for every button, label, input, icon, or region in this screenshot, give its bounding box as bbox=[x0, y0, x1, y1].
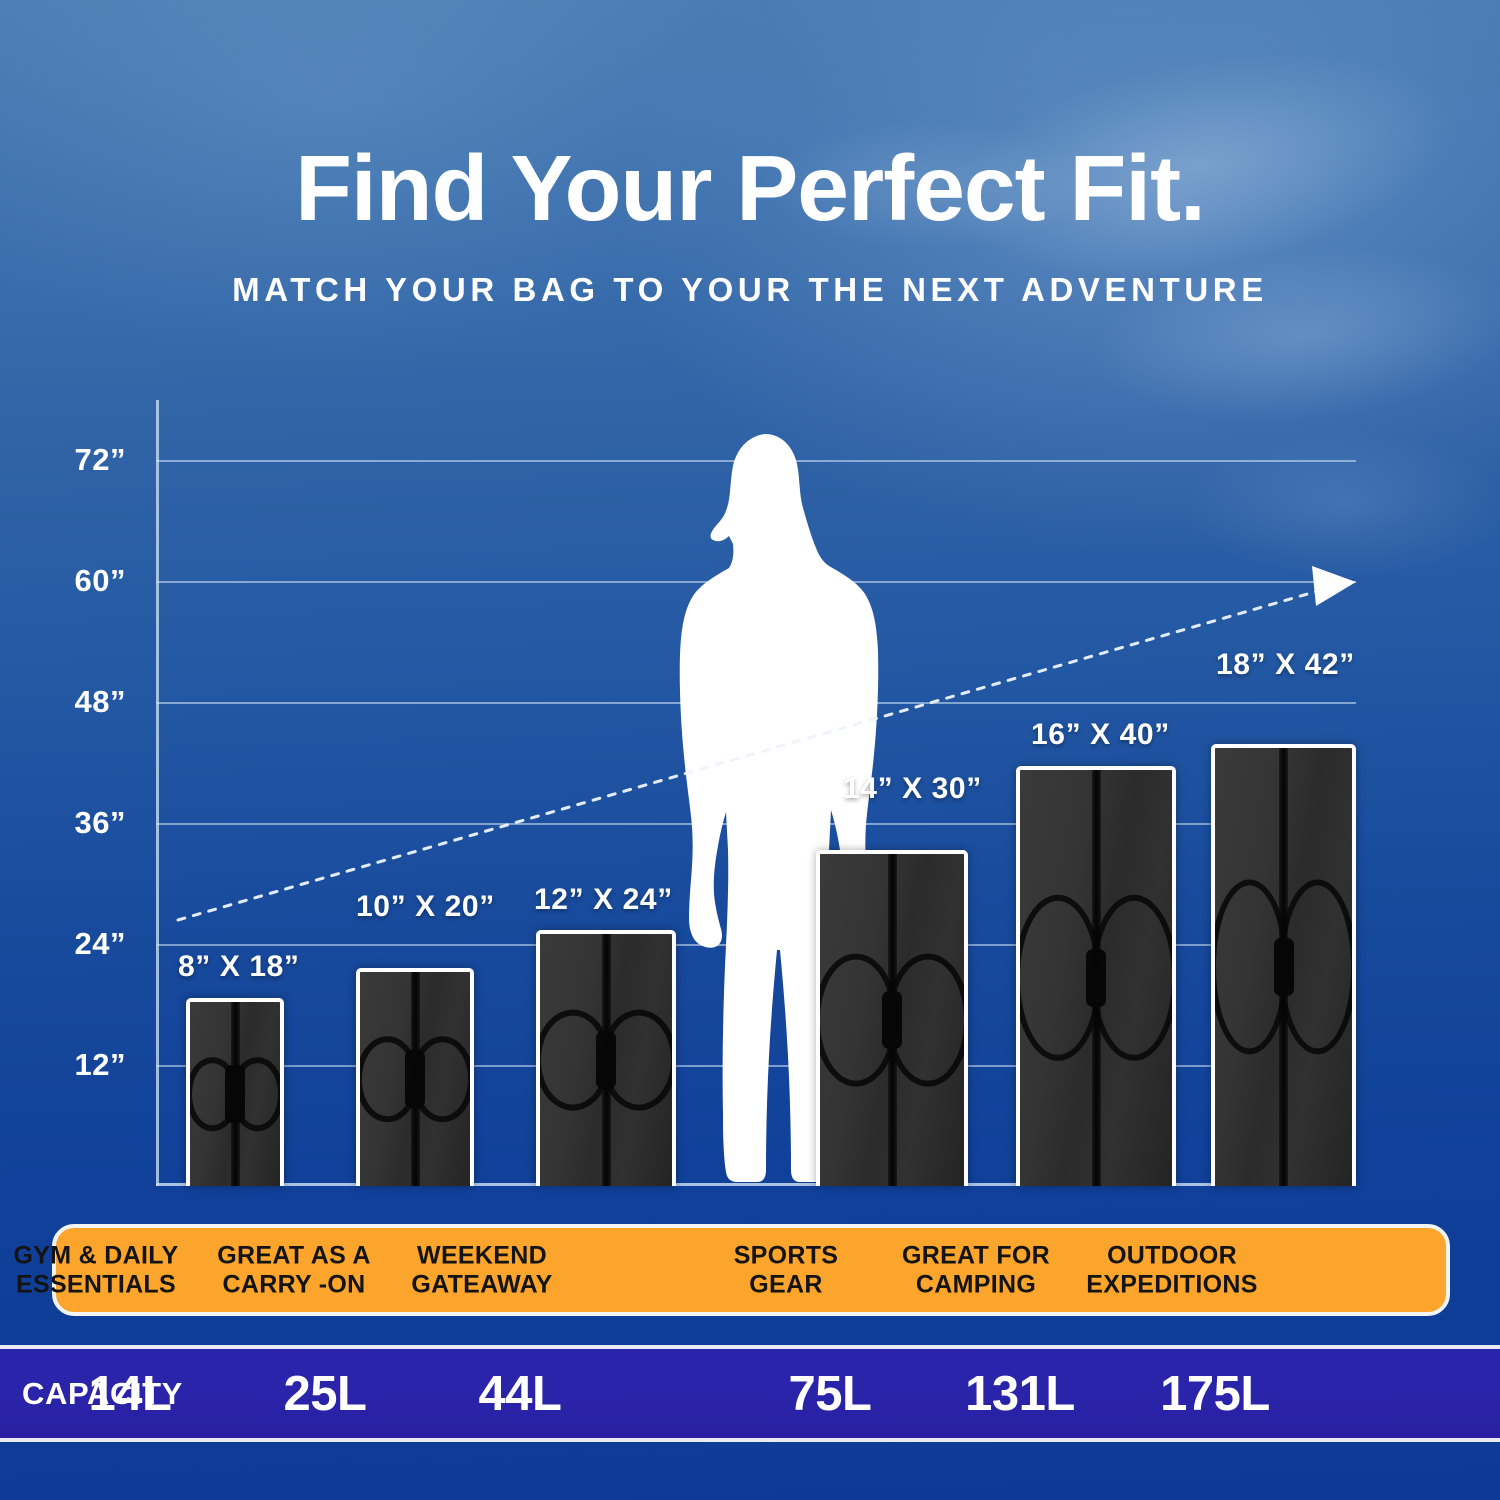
infographic-page: Find Your Perfect Fit. MATCH YOUR BAG TO… bbox=[0, 0, 1500, 1500]
capacity-strip: CAPACITY 14L25L44L75L131L175L bbox=[0, 1345, 1500, 1442]
use-case-cell[interactable]: SPORTS GEAR bbox=[696, 1242, 876, 1299]
gridline bbox=[156, 823, 1356, 825]
capacity-value: 44L bbox=[435, 1366, 605, 1422]
capacity-value: 131L bbox=[935, 1366, 1105, 1422]
bar-size-label: 10” X 20” bbox=[356, 890, 495, 924]
gridline bbox=[156, 944, 1356, 946]
y-axis-tick-label: 60” bbox=[75, 563, 126, 599]
bar-size-label: 12” X 24” bbox=[534, 883, 673, 917]
bar-duffel-bag[interactable] bbox=[816, 850, 968, 1186]
bag-strap-hub bbox=[225, 1065, 245, 1123]
page-subtitle: MATCH YOUR BAG TO YOUR THE NEXT ADVENTUR… bbox=[0, 271, 1500, 309]
use-case-cell[interactable]: GREAT FOR CAMPING bbox=[886, 1242, 1066, 1299]
capacity-value: 25L bbox=[240, 1366, 410, 1422]
capacity-value: 75L bbox=[745, 1366, 915, 1422]
header: Find Your Perfect Fit. MATCH YOUR BAG TO… bbox=[0, 0, 1500, 309]
bag-strap-hub bbox=[882, 991, 902, 1049]
use-case-cell[interactable]: GYM & DAILY ESSENTIALS bbox=[6, 1242, 186, 1299]
bar-duffel-bag[interactable] bbox=[186, 998, 284, 1186]
y-axis-line bbox=[156, 400, 159, 1186]
x-axis-line bbox=[156, 1183, 1356, 1186]
bar-size-label: 14” X 30” bbox=[843, 772, 982, 806]
capacity-value: 14L bbox=[45, 1366, 215, 1422]
gridline bbox=[156, 581, 1356, 583]
gridline bbox=[156, 702, 1356, 704]
bar-size-label: 8” X 18” bbox=[178, 950, 300, 984]
capacity-value: 175L bbox=[1130, 1366, 1300, 1422]
y-axis-tick-label: 48” bbox=[75, 684, 126, 720]
bar-size-label: 18” X 42” bbox=[1216, 648, 1355, 682]
bag-strap-hub bbox=[596, 1031, 616, 1089]
bag-strap-hub bbox=[1086, 949, 1106, 1007]
use-case-cell[interactable]: WEEKEND GATEAWAY bbox=[392, 1242, 572, 1299]
bar-duffel-bag[interactable] bbox=[356, 968, 474, 1186]
y-axis-labels: 72”60”48”36”24”12” bbox=[0, 400, 140, 1186]
bag-strap-hub bbox=[405, 1050, 425, 1108]
gridline bbox=[156, 1065, 1356, 1067]
y-axis-tick-label: 36” bbox=[75, 805, 126, 841]
bar-duffel-bag[interactable] bbox=[1016, 766, 1176, 1186]
bag-strap-hub bbox=[1274, 938, 1294, 996]
y-axis-tick-label: 24” bbox=[75, 926, 126, 962]
y-axis-tick-label: 12” bbox=[75, 1047, 126, 1083]
use-case-cell[interactable]: GREAT AS A CARRY -ON bbox=[204, 1242, 384, 1299]
trend-arrow-icon bbox=[156, 400, 1356, 1186]
bar-size-label: 16” X 40” bbox=[1031, 718, 1170, 752]
use-case-cell[interactable]: OUTDOOR EXPEDITIONS bbox=[1082, 1242, 1262, 1299]
use-case-banner[interactable]: GYM & DAILY ESSENTIALSGREAT AS A CARRY -… bbox=[52, 1224, 1450, 1316]
bar-duffel-bag[interactable] bbox=[1211, 744, 1356, 1186]
page-title: Find Your Perfect Fit. bbox=[0, 142, 1500, 235]
y-axis-tick-label: 72” bbox=[75, 442, 126, 478]
gridline bbox=[156, 460, 1356, 462]
bar-chart: 8” X 18”10” X 20”12” X 24”14” X 30”16” X… bbox=[156, 400, 1356, 1186]
bar-duffel-bag[interactable] bbox=[536, 930, 676, 1186]
